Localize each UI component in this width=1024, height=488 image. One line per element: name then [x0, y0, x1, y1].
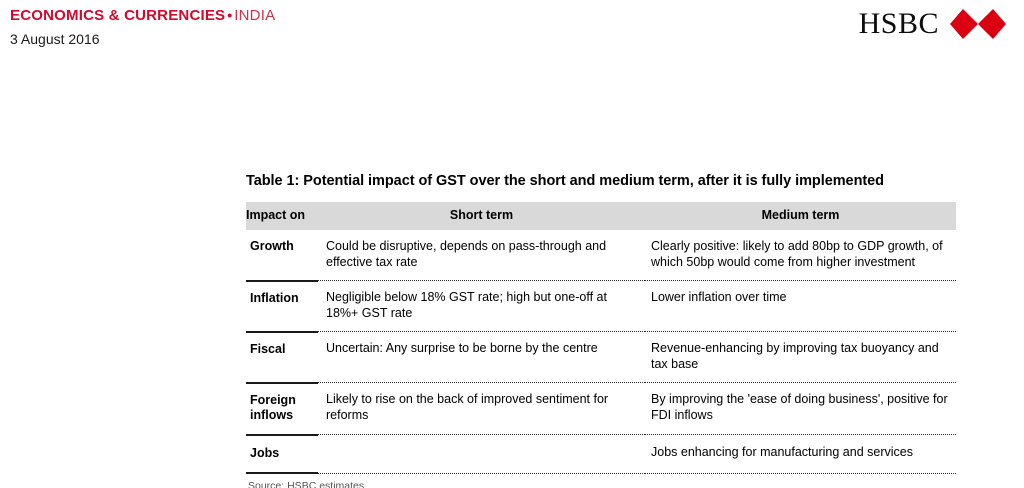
kicker-bullet-icon: •	[225, 7, 234, 23]
cell-medium-term-jobs: Jobs enhancing for manufacturing and ser…	[645, 435, 956, 474]
cell-medium-term-foreign-inflows: By improving the 'ease of doing business…	[645, 383, 956, 435]
cell-medium-term-fiscal: Revenue-enhancing by improving tax buoya…	[645, 332, 956, 383]
hsbc-logo: HSBC	[859, 9, 1006, 39]
gst-impact-table: Impact on Short term Medium term Growth …	[246, 202, 956, 474]
document-page: ECONOMICS & CURRENCIES•INDIA 3 August 20…	[0, 0, 1024, 488]
table-row: Fiscal Uncertain: Any surprise to be bor…	[246, 332, 956, 383]
row-label-growth: Growth	[246, 230, 318, 281]
table-source-note: Source: HSBC estimates	[246, 480, 956, 488]
cell-medium-term-growth: Clearly positive: likely to add 80bp to …	[645, 230, 956, 281]
cell-short-term-inflation: Negligible below 18% GST rate; high but …	[318, 281, 645, 332]
report-date: 3 August 2016	[10, 31, 100, 48]
row-label-jobs: Jobs	[246, 435, 318, 474]
table-row: Jobs Jobs enhancing for manufacturing an…	[246, 435, 956, 474]
column-header-medium-term: Medium term	[645, 202, 956, 230]
table-row: Growth Could be disruptive, depends on p…	[246, 230, 956, 281]
cell-short-term-growth: Could be disruptive, depends on pass-thr…	[318, 230, 645, 281]
hsbc-hexagon-icon	[950, 9, 1006, 39]
row-label-inflation: Inflation	[246, 281, 318, 332]
table-title: Table 1: Potential impact of GST over th…	[246, 172, 918, 191]
kicker-brand-line: ECONOMICS & CURRENCIES	[10, 7, 225, 24]
cell-short-term-jobs	[318, 435, 645, 474]
column-header-short-term: Short term	[318, 202, 645, 230]
table-row: Foreign inflows Likely to rise on the ba…	[246, 383, 956, 435]
table-row: Inflation Negligible below 18% GST rate;…	[246, 281, 956, 332]
cell-short-term-foreign-inflows: Likely to rise on the back of improved s…	[318, 383, 645, 435]
table-container: Table 1: Potential impact of GST over th…	[246, 172, 956, 488]
report-kicker: ECONOMICS & CURRENCIES•INDIA	[10, 6, 275, 25]
cell-medium-term-inflation: Lower inflation over time	[645, 281, 956, 332]
row-label-fiscal: Fiscal	[246, 332, 318, 383]
table-header-row: Impact on Short term Medium term	[246, 202, 956, 230]
cell-short-term-fiscal: Uncertain: Any surprise to be borne by t…	[318, 332, 645, 383]
report-header: ECONOMICS & CURRENCIES•INDIA 3 August 20…	[0, 0, 1024, 62]
kicker-region: INDIA	[234, 7, 275, 24]
column-header-impact-on: Impact on	[246, 202, 318, 230]
hsbc-wordmark: HSBC	[859, 9, 939, 39]
row-label-foreign-inflows: Foreign inflows	[246, 383, 318, 435]
